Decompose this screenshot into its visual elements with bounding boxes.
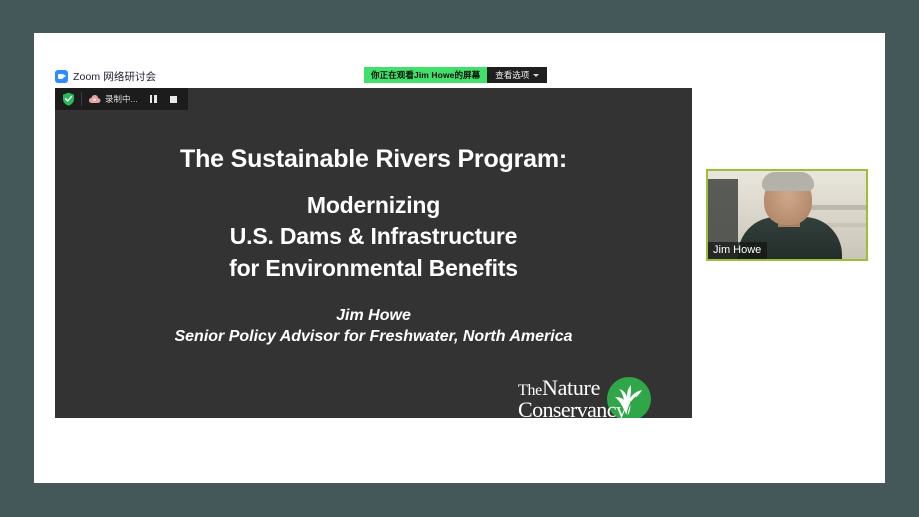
slide-author-role: Senior Policy Advisor for Freshwater, No… [55, 326, 692, 348]
participant-video-tile[interactable]: Jim Howe [706, 169, 868, 261]
chevron-down-icon [533, 74, 539, 77]
view-options-label: 查看选项 [495, 69, 529, 81]
zoom-logo-icon [55, 70, 68, 83]
slide-subtitle-block: Modernizing U.S. Dams & Infrastructure f… [55, 190, 692, 285]
stop-recording-button[interactable] [166, 92, 181, 107]
slide-subtitle-line-1: Modernizing [55, 190, 692, 222]
stop-icon [170, 96, 177, 103]
zoom-brand: Zoom 网络研讨会 [55, 67, 156, 85]
video-background-shelf [804, 205, 866, 210]
recording-toolbar: 录制中... [55, 88, 188, 110]
viewing-screen-banner: 你正在观看Jim Howe的屏幕 [364, 67, 487, 83]
participant-hair [762, 172, 814, 191]
screen-share-banner-group: 你正在观看Jim Howe的屏幕 查看选项 [364, 67, 547, 83]
slide-title-main: The Sustainable Rivers Program: [55, 146, 692, 174]
zoom-webinar-header: Zoom 网络研讨会 你正在观看Jim Howe的屏幕 查看选项 [55, 64, 692, 88]
slide-author-name: Jim Howe [55, 305, 692, 327]
nature-conservancy-logo: TheNature Conservancy [518, 376, 652, 418]
participant-name-label: Jim Howe [708, 242, 767, 259]
view-options-button[interactable]: 查看选项 [487, 67, 547, 83]
presentation-slide: The Sustainable Rivers Program: Moderniz… [55, 110, 692, 418]
cloud-recording-icon [88, 94, 101, 104]
zoom-brand-label: Zoom 网络研讨会 [73, 69, 156, 84]
recording-status-label: 录制中... [105, 93, 138, 105]
slide-subtitle-line-2: U.S. Dams & Infrastructure [55, 221, 692, 253]
slide-subtitle-line-3: for Environmental Benefits [55, 253, 692, 285]
shared-screen-area: 录制中... The Sustainable Rivers Program: M… [55, 88, 692, 418]
pause-icon [150, 95, 157, 103]
tnc-wordmark-line-2: Conservancy [518, 399, 626, 418]
pause-recording-button[interactable] [146, 92, 161, 107]
tnc-wordmark-line-1: TheNature [518, 377, 626, 399]
tnc-wordmark: TheNature Conservancy [518, 377, 626, 418]
recording-controls [146, 92, 181, 107]
shield-check-icon[interactable] [55, 88, 81, 110]
recording-status: 录制中... [82, 88, 144, 110]
desktop-backdrop: Zoom 网络研讨会 你正在观看Jim Howe的屏幕 查看选项 [0, 0, 919, 517]
